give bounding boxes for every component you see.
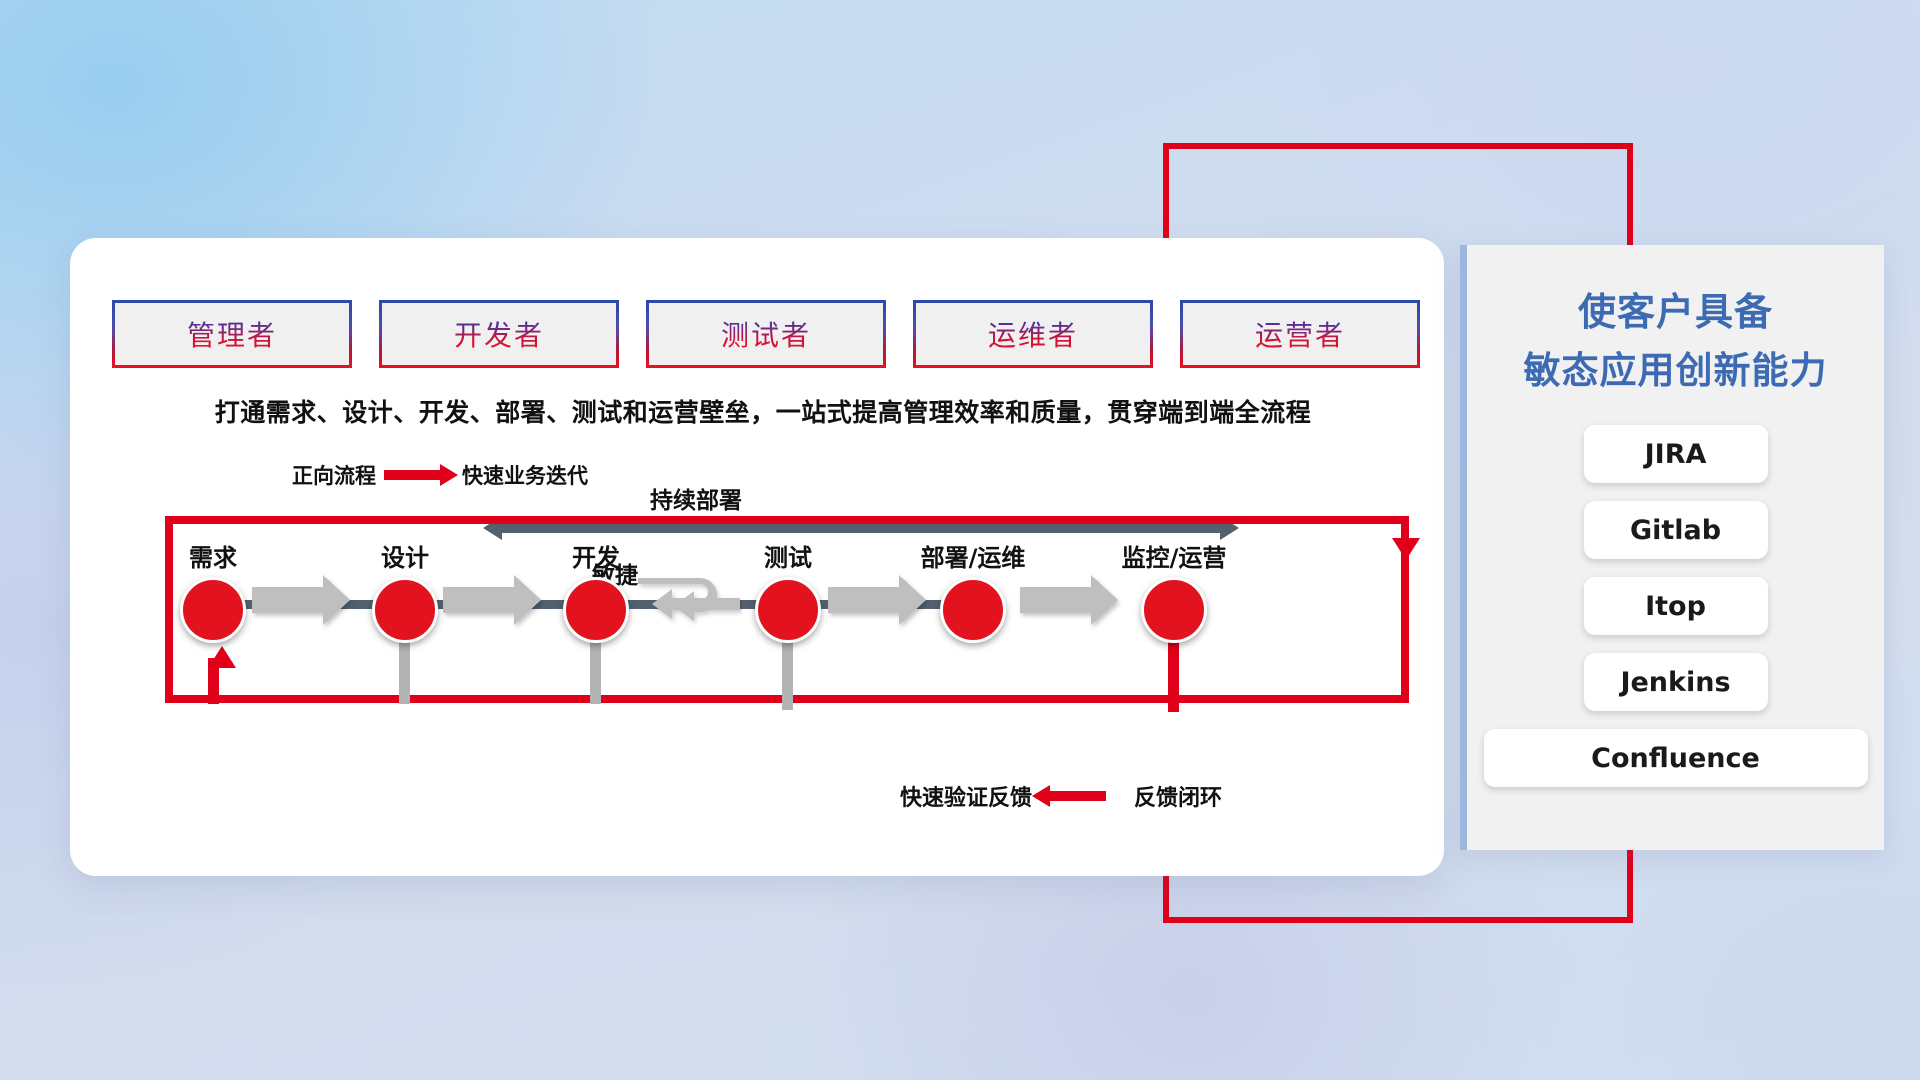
- role-box-operations[interactable]: 运营者: [1180, 300, 1420, 368]
- panel-title-line2: 敏态应用创新能力: [1467, 342, 1884, 399]
- role-label: 开发者: [454, 314, 544, 354]
- value-panel: 使客户具备 敏态应用创新能力 JIRA Gitlab Itop Jenkins …: [1460, 245, 1884, 850]
- stage-design[interactable]: 设计: [350, 538, 460, 643]
- tool-chip-confluence[interactable]: Confluence: [1484, 729, 1868, 787]
- cycle-arrow-icon: [636, 570, 742, 641]
- stage-test[interactable]: 测试: [733, 538, 843, 643]
- connector-design: [399, 638, 410, 704]
- forward-flow-label: 正向流程: [292, 460, 376, 490]
- stage-dot: [372, 577, 438, 643]
- stage-monitor-operations[interactable]: 监控/运营: [1119, 538, 1229, 643]
- stage-label: 部署/运维: [918, 538, 1028, 573]
- stage-dot: [180, 577, 246, 643]
- fast-iteration-label: 快速业务迭代: [462, 460, 588, 490]
- right-arrow-icon: [384, 470, 442, 480]
- stage-label: 开发: [541, 538, 651, 573]
- loop-down-arrowhead-icon: [1392, 538, 1420, 560]
- stage-develop[interactable]: 开发: [541, 538, 651, 643]
- stage-label: 监控/运营: [1119, 538, 1229, 573]
- role-label: 运维者: [988, 314, 1078, 354]
- tool-chip-jenkins[interactable]: Jenkins: [1584, 653, 1768, 711]
- stage-label: 设计: [350, 538, 460, 573]
- left-arrow-icon: [1048, 791, 1106, 801]
- tool-chip-itop[interactable]: Itop: [1584, 577, 1768, 635]
- role-label: 测试者: [721, 314, 811, 354]
- stage-demand[interactable]: 需求: [158, 538, 268, 643]
- connector-develop: [590, 638, 601, 704]
- stage-dot: [563, 577, 629, 643]
- description-text: 打通需求、设计、开发、部署、测试和运营壁垒，一站式提高管理效率和质量，贯穿端到端…: [118, 393, 1408, 429]
- stage-deploy-ops[interactable]: 部署/运维: [918, 538, 1028, 643]
- feedback-legend: 快速验证反馈 反馈闭环: [900, 780, 1222, 812]
- role-label: 管理者: [187, 314, 277, 354]
- stage-dot: [755, 577, 821, 643]
- stage-dot: [1141, 577, 1207, 643]
- role-box-tester[interactable]: 测试者: [646, 300, 886, 368]
- feedback-loop-label: 反馈闭环: [1134, 780, 1222, 812]
- stage-label: 需求: [158, 538, 268, 573]
- role-box-manager[interactable]: 管理者: [112, 300, 352, 368]
- tool-chip-gitlab[interactable]: Gitlab: [1584, 501, 1768, 559]
- flow-arrow-5-icon: [1020, 587, 1092, 613]
- stage-label: 测试: [733, 538, 843, 573]
- slide-canvas: 管理者 开发者 测试者 运维者 运营者 打通需求、设计、开发、部署、测试和运营壁…: [0, 0, 1920, 1080]
- stage-dot: [940, 577, 1006, 643]
- forward-flow-legend: 正向流程 快速业务迭代: [292, 460, 588, 490]
- main-card: 管理者 开发者 测试者 运维者 运营者 打通需求、设计、开发、部署、测试和运营壁…: [70, 238, 1444, 876]
- role-box-developer[interactable]: 开发者: [379, 300, 619, 368]
- role-label: 运营者: [1255, 314, 1345, 354]
- tool-chip-list: JIRA Gitlab Itop Jenkins Confluence: [1485, 425, 1866, 787]
- panel-title-line1: 使客户具备: [1467, 283, 1884, 342]
- role-box-row: 管理者 开发者 测试者 运维者 运营者: [112, 300, 1420, 368]
- fast-validation-label: 快速验证反馈: [900, 780, 1032, 812]
- panel-title: 使客户具备 敏态应用创新能力: [1467, 283, 1884, 399]
- continuous-deploy-label: 持续部署: [650, 481, 742, 515]
- loop-up-arrowhead-icon: [208, 646, 236, 668]
- role-box-ops[interactable]: 运维者: [913, 300, 1153, 368]
- tool-chip-jira[interactable]: JIRA: [1584, 425, 1768, 483]
